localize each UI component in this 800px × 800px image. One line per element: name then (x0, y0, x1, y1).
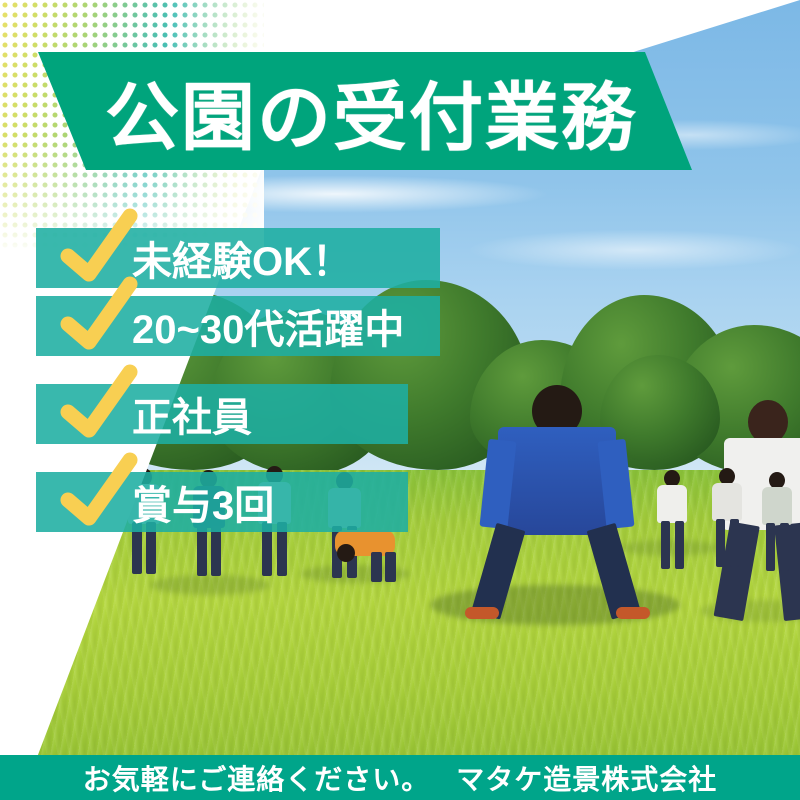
list-item-label: 正社員 (132, 384, 252, 444)
feature-list: 未経験OK！ 20~30代活躍中 正社員 賞与3回 (0, 0, 800, 800)
footer-company-name: マタケ造景株式会社 (456, 758, 717, 798)
list-item-label: 20~30代活躍中 (132, 296, 404, 356)
footer-message: お気軽にご連絡ください。 (83, 758, 430, 798)
list-item-label: 賞与3回 (132, 472, 274, 532)
footer: お気軽にご連絡ください。 マタケ造景株式会社 (0, 755, 800, 800)
list-item-label: 未経験OK！ (132, 228, 352, 288)
job-ad-poster: 公園の受付業務 未経験OK！ 20~30代活躍中 正社員 (0, 0, 800, 800)
